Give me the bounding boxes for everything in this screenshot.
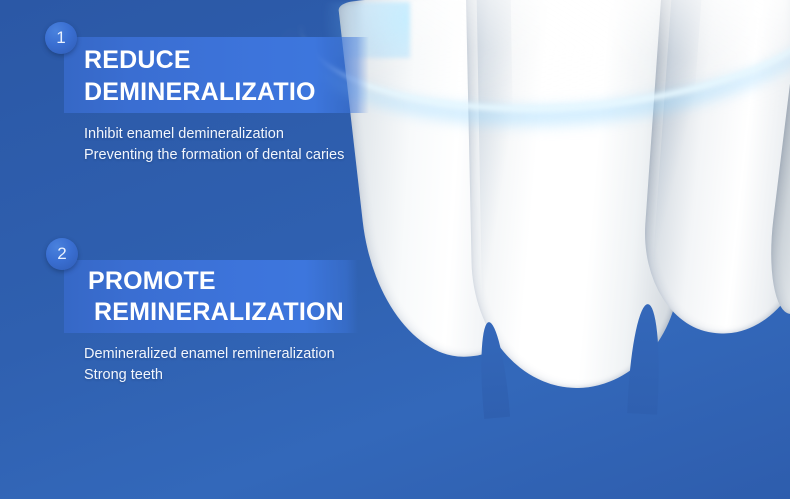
feature-1-body-line1: Inhibit enamel demineralization <box>84 124 344 145</box>
feature-2-body: Demineralized enamel remineralization St… <box>84 344 335 386</box>
feature-2-heading: PROMOTE REMINERALIZATION <box>88 266 344 328</box>
feature-1-heading: REDUCE DEMINERALIZATIO <box>84 44 316 108</box>
feature-2-heading-line1: PROMOTE <box>88 267 216 295</box>
feature-1-number-badge: 1 <box>45 22 77 54</box>
feature-1-heading-line2: DEMINERALIZATIO <box>84 76 316 108</box>
feature-1-heading-line1: REDUCE <box>84 46 191 74</box>
promo-banner: 1 REDUCE DEMINERALIZATIO Inhibit enamel … <box>0 0 790 499</box>
feature-2-body-line1: Demineralized enamel remineralization <box>84 344 335 365</box>
feature-2-heading-line2: REMINERALIZATION <box>88 297 344 328</box>
feature-1-body: Inhibit enamel demineralization Preventi… <box>84 124 344 166</box>
feature-2-number-badge: 2 <box>46 238 78 270</box>
feature-2-body-line2: Strong teeth <box>84 365 335 386</box>
feature-1-body-line2: Preventing the formation of dental carie… <box>84 145 344 166</box>
